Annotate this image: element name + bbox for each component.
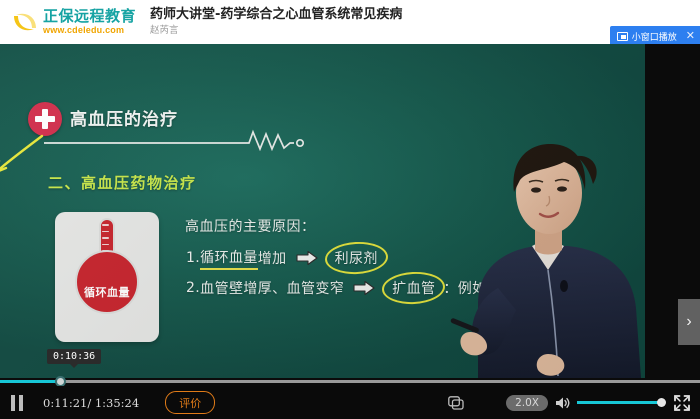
player-controls: 0:11:21/ 1:35:24 评价 2.0X: [0, 386, 700, 419]
cause-result-text-1: 利尿剂: [335, 251, 378, 267]
volume-icon[interactable]: [555, 396, 571, 410]
slide-title: 高血压的治疗: [70, 105, 178, 130]
cause-result-1: 利尿剂: [327, 246, 386, 270]
cause-result-2: 扩血管: [384, 276, 443, 300]
ecg-waveform-icon: [44, 129, 306, 156]
lecture-slide: 高血压的治疗 二、高血压药物治疗 循环血量: [0, 44, 645, 378]
picture-in-picture-icon: [617, 32, 628, 41]
video-player-page: 正保远程教育 www.cdeledu.com 药师大讲堂-药学综合之心血管系统常…: [0, 0, 700, 419]
video-stage[interactable]: 高血压的治疗 二、高血压药物治疗 循环血量: [0, 44, 700, 378]
slide-section-heading: 二、高血压药物治疗: [48, 172, 197, 193]
arrow-right-icon: [353, 281, 375, 295]
rate-course-button[interactable]: 评价: [165, 391, 215, 414]
pip-label: 小窗口播放: [632, 30, 677, 43]
thermometer-bulb: [75, 250, 139, 314]
course-author: 赵芮言: [150, 26, 402, 37]
progress-bar[interactable]: [0, 378, 700, 386]
picture-in-picture-icon[interactable]: [448, 396, 464, 410]
progress-fill: [0, 380, 62, 383]
instructor-figure: [436, 118, 651, 378]
progress-track[interactable]: [0, 380, 700, 383]
pause-icon[interactable]: [11, 395, 25, 411]
brand-url: www.cdeledu.com: [43, 26, 136, 35]
brand-logo[interactable]: 正保远程教育 www.cdeledu.com: [0, 9, 136, 35]
close-icon[interactable]: ✕: [681, 31, 695, 42]
swoosh-logo-icon: [12, 9, 38, 35]
arrow-right-icon: [296, 251, 318, 265]
next-slide-button[interactable]: ›: [678, 299, 700, 345]
cause-heading: 高血压的主要原因：: [185, 216, 316, 236]
course-info: 药师大讲堂-药学综合之心血管系统常见疾病 赵芮言: [150, 8, 402, 37]
cause-index-2: 2.: [186, 280, 200, 296]
cause-index-1: 1.: [186, 250, 200, 266]
volume-handle[interactable]: [657, 398, 666, 407]
cause-rest-2: 、血管变窄: [272, 278, 344, 298]
brand-text: 正保远程教育 www.cdeledu.com: [43, 9, 136, 35]
cause-underlined-1: 循环血量: [200, 247, 258, 270]
time-display: 0:11:21/ 1:35:24: [43, 396, 139, 410]
yellow-arrow-annotation: [0, 124, 46, 189]
cause-underlined-2: 血管壁增厚: [200, 278, 272, 298]
cause-item-1: 1. 循环血量 增加 利尿剂: [186, 246, 386, 270]
thermometer-label: 循环血量: [55, 284, 159, 300]
cause-rest-1: 增加: [258, 248, 287, 268]
brand-name: 正保远程教育: [43, 9, 136, 24]
fullscreen-icon[interactable]: [674, 395, 690, 411]
cause-result-text-2: 扩血管: [392, 281, 435, 297]
page-header: 正保远程教育 www.cdeledu.com 药师大讲堂-药学综合之心血管系统常…: [0, 0, 700, 44]
volume-slider[interactable]: [577, 401, 662, 404]
slide-title-row: 高血压的治疗: [28, 102, 318, 146]
page-title: 药师大讲堂-药学综合之心血管系统常见疾病: [150, 8, 402, 23]
seek-time-tooltip: 0:10:36: [47, 349, 101, 364]
playback-speed-badge[interactable]: 2.0X: [506, 395, 548, 411]
pip-toggle-bar[interactable]: 小窗口播放 ✕: [610, 26, 700, 46]
thermometer-graphic: 循环血量: [55, 212, 159, 342]
